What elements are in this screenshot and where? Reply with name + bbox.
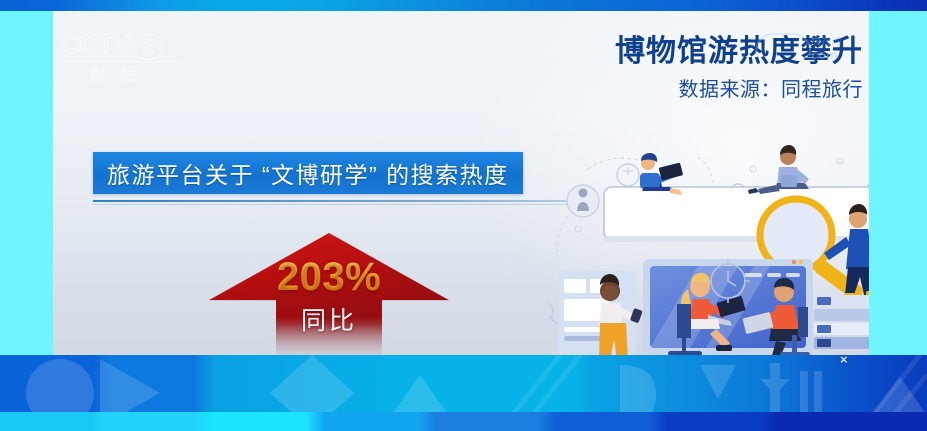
growth-arrow: 203% 同比 <box>209 233 449 355</box>
bottom-decor-band <box>0 355 927 431</box>
statistic-comparison-label: 同比 <box>209 301 449 337</box>
close-icon[interactable]: × <box>840 352 848 367</box>
top-gradient-bar <box>0 0 927 11</box>
left-cyan-rail <box>0 11 53 355</box>
caption-banner-text: 旅游平台关于 “文博研学” 的搜索热度 <box>107 156 509 190</box>
cctv-sub-label: 财经 <box>61 65 211 85</box>
online-search-illustration <box>548 139 869 355</box>
band-bottom-strip <box>0 412 927 431</box>
cctv-wordmark-text: CCTV <box>61 29 131 59</box>
cctv-logo-rule <box>64 61 182 63</box>
content-panel: CCTV2 财经 博物馆游热度攀升 数据来源：同程旅行 央视网 com 旅游平台… <box>53 11 869 355</box>
statistic-value: 203% <box>209 255 449 300</box>
cctv-channel-number: 2 <box>133 34 163 60</box>
headline-block: 博物馆游热度攀升 数据来源：同程旅行 <box>533 33 863 105</box>
caption-underline <box>93 200 573 202</box>
caption-banner: 旅游平台关于 “文博研学” 的搜索热度 <box>93 152 523 194</box>
cctv-wordmark: CCTV2 <box>61 29 211 60</box>
data-source-label: 数据来源：同程旅行 <box>533 75 863 105</box>
broadcast-screenshot: CCTV2 财经 博物馆游热度攀升 数据来源：同程旅行 央视网 com 旅游平台… <box>0 0 927 431</box>
right-cyan-rail <box>869 11 927 355</box>
caption-underline-secondary <box>93 204 573 205</box>
page-title: 博物馆游热度攀升 <box>533 33 863 71</box>
info-icon <box>567 185 599 217</box>
books-stack <box>814 295 869 349</box>
cctv-channel-logo: CCTV2 财经 <box>61 29 211 89</box>
